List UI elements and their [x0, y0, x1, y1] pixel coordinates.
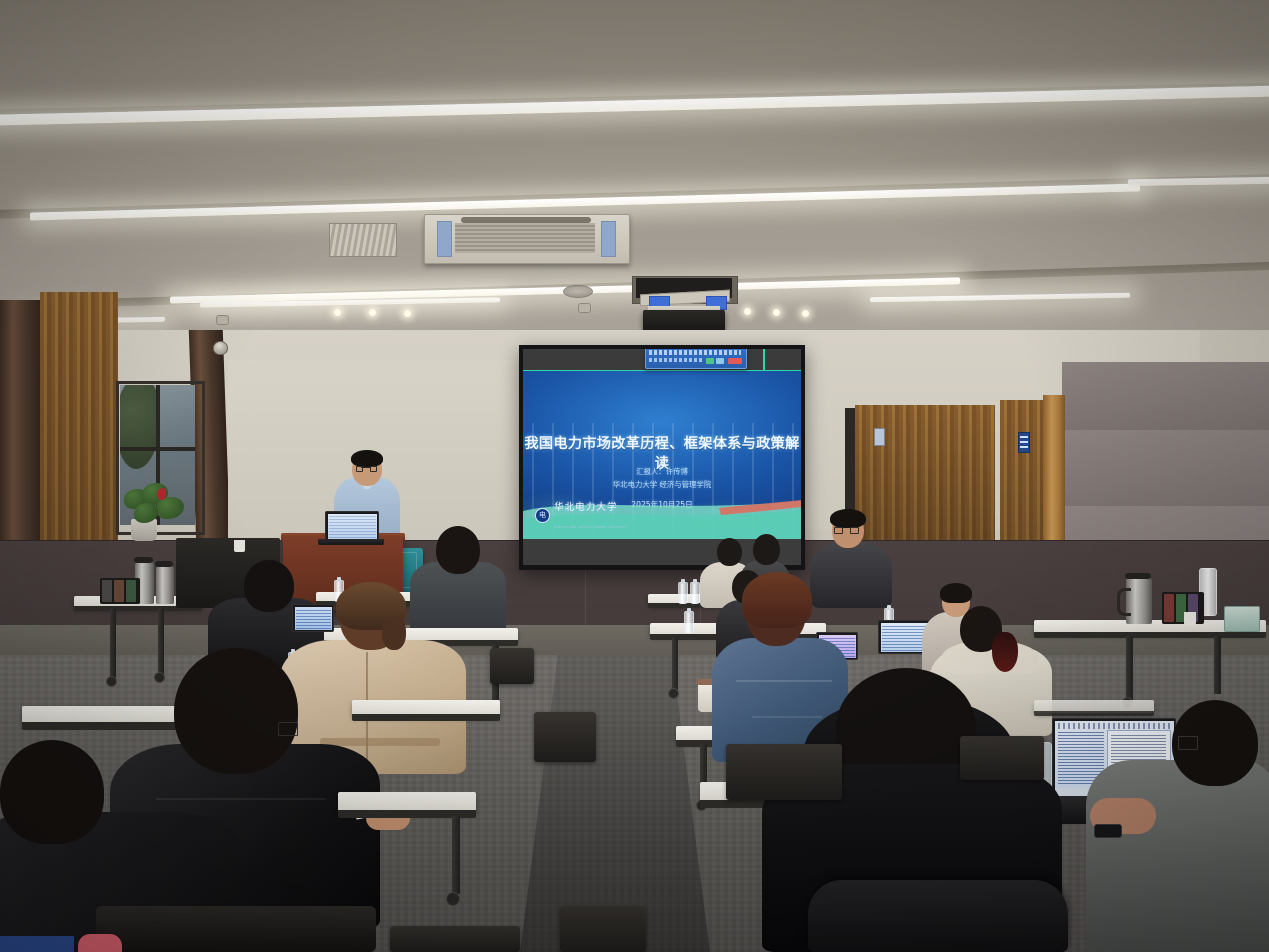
wrist-watch	[1094, 824, 1122, 838]
chair[interactable]	[390, 926, 520, 952]
attendee-hair	[940, 583, 972, 603]
desk-leg	[672, 638, 678, 690]
sachet	[126, 580, 136, 602]
chat-notification-popup[interactable]	[645, 349, 747, 369]
attendee-head	[717, 538, 742, 566]
thermos-handle	[1117, 588, 1131, 616]
condiment-tray	[100, 578, 140, 604]
desk	[338, 792, 476, 812]
notification-body-text	[649, 358, 703, 362]
recessed-downlight	[334, 309, 341, 316]
ceiling-speaker	[563, 285, 593, 298]
table-leg	[1126, 636, 1133, 700]
laptop-screen[interactable]	[328, 514, 377, 539]
university-name-en: NORTH CHINA ELECTRIC POWER UNIVERSITY	[554, 526, 627, 529]
presenter-laptop-keyboard[interactable]	[318, 539, 384, 545]
attendee-torso	[1086, 760, 1269, 952]
paper-cup	[1184, 612, 1196, 626]
chair[interactable]	[960, 736, 1044, 780]
presenter-glasses-right	[370, 466, 377, 472]
service-table-right-edge	[1034, 632, 1266, 638]
sachet	[1164, 594, 1174, 622]
ac-vane-right	[601, 221, 616, 257]
tissue-box	[1224, 606, 1260, 632]
attendee-glasses	[850, 527, 859, 534]
blue-object	[0, 936, 74, 952]
presenter-laptop[interactable]	[325, 511, 379, 541]
desk-caster	[446, 892, 460, 906]
acoustic-panel	[1062, 362, 1269, 431]
sachet	[114, 580, 124, 602]
desk-leg	[452, 816, 460, 894]
slide-logo: 电 华北电力大学 NORTH CHINA ELECTRIC POWER UNIV…	[535, 497, 627, 533]
university-name: 华北电力大学	[554, 502, 618, 513]
attendee-head	[0, 740, 104, 844]
recessed-downlight	[773, 309, 780, 316]
security-camera	[213, 341, 228, 355]
university-seal-icon: 电	[535, 508, 550, 523]
laptop-screen-content	[329, 515, 376, 538]
attendee-ponytail	[382, 616, 406, 650]
attendee-head	[753, 534, 780, 565]
door-handle-plate	[874, 428, 885, 446]
ac-vane-left	[437, 221, 452, 257]
water-bottle	[690, 582, 700, 604]
chair[interactable]	[560, 906, 646, 952]
condiment-tray	[1162, 592, 1204, 624]
recessed-downlight	[802, 310, 809, 317]
smoke-detector	[578, 303, 591, 313]
paper-cup	[234, 540, 245, 552]
attendee-ponytail	[992, 632, 1018, 672]
presenter-hair	[351, 450, 383, 467]
slide-presenter-line: 汇报人：许传博	[523, 466, 801, 477]
chair[interactable]	[534, 712, 596, 762]
notification-action-accept[interactable]	[706, 358, 714, 364]
attendee-head	[436, 526, 480, 574]
jacket-on-chair	[808, 880, 1068, 952]
pink-object	[78, 934, 122, 952]
projection-screen[interactable]: 正在演示 停止共享 我国电力市场改革历程、框架体系与政策解读 汇报人：许传博 华…	[523, 349, 801, 565]
laptop-lid	[325, 511, 379, 541]
lecture-hall-photo: 正在演示 停止共享 我国电力市场改革历程、框架体系与政策解读 汇报人：许传博 华…	[0, 0, 1269, 952]
notification-action-open[interactable]	[716, 358, 724, 364]
chair-back	[96, 906, 376, 952]
water-bottle	[684, 611, 694, 633]
acoustic-panel	[1062, 430, 1269, 507]
notification-title-text	[649, 350, 741, 355]
attendee-glasses	[1178, 736, 1198, 750]
desk-edge	[1034, 711, 1154, 716]
table-leg	[1214, 636, 1221, 694]
attendee-hair	[742, 572, 812, 628]
attendee-hair	[830, 509, 866, 528]
chair[interactable]	[726, 744, 842, 800]
exit-sign-plate	[1018, 432, 1030, 453]
water-bottle	[678, 582, 688, 604]
sachet	[102, 580, 112, 602]
recessed-downlight	[404, 310, 411, 317]
slide-affiliation-line: 华北电力大学 经济与管理学院	[523, 479, 801, 490]
chair[interactable]	[490, 648, 534, 684]
smoke-detector	[216, 315, 229, 325]
slide-footer-wave: 电 华北电力大学 NORTH CHINA ELECTRIC POWER UNIV…	[523, 495, 801, 539]
notification-action-dismiss[interactable]	[728, 358, 742, 364]
slide-canvas: 我国电力市场改革历程、框架体系与政策解读 汇报人：许传博 华北电力大学 经济与管…	[523, 371, 801, 539]
recessed-downlight	[369, 309, 376, 316]
presenter-glasses-bridge	[361, 467, 370, 468]
recessed-downlight	[744, 308, 751, 315]
screen-share-indicator-line	[763, 349, 765, 371]
ac-cassette-unit	[424, 214, 630, 264]
desk-caster	[668, 688, 679, 699]
attendee-glasses	[834, 527, 843, 534]
ac-grille	[455, 223, 595, 253]
ceiling-vent	[329, 223, 397, 257]
plant-flower	[157, 488, 166, 500]
attendee-glasses	[278, 722, 298, 736]
thermos-flask	[156, 566, 174, 604]
